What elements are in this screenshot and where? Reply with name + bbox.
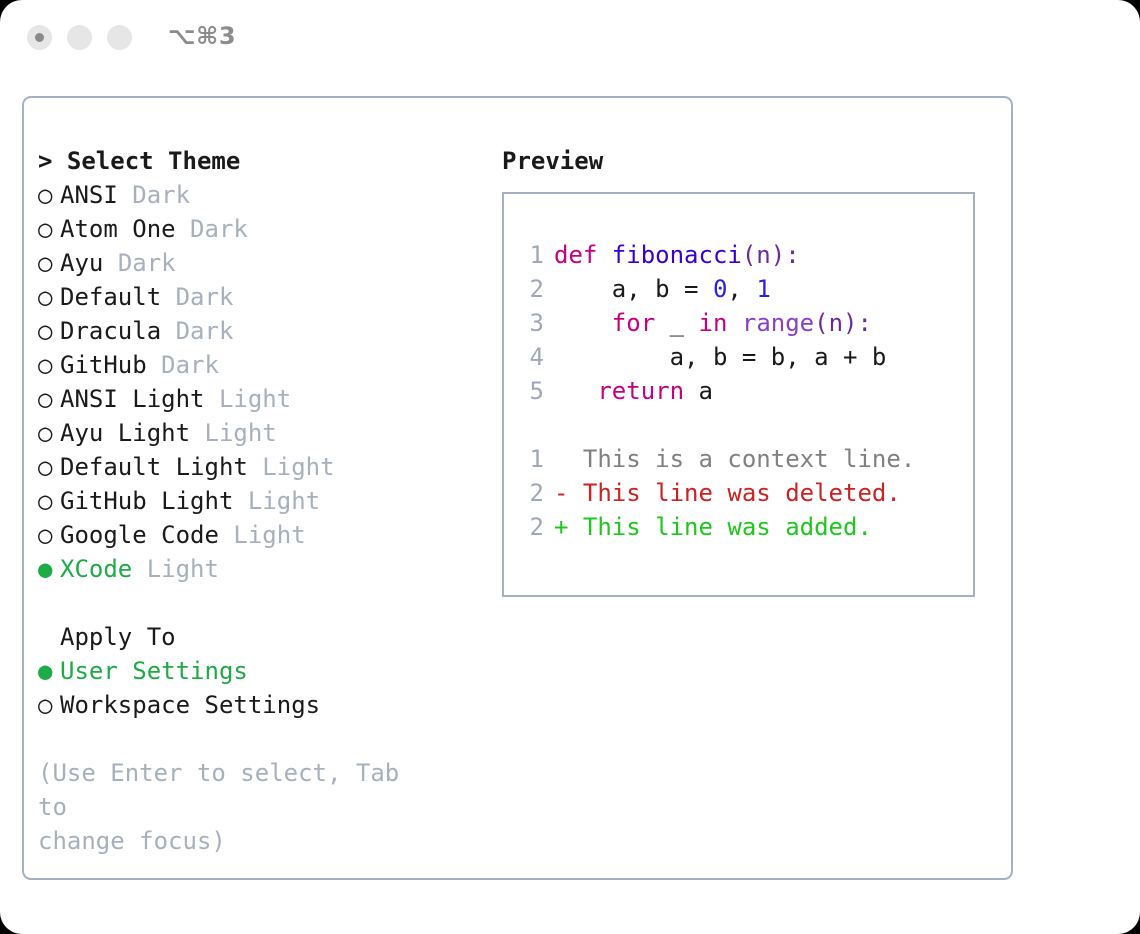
theme-name-label: Ayu Light: [60, 416, 190, 450]
code-token: (n):: [814, 309, 872, 337]
radio-unselected-icon: ○: [38, 382, 60, 416]
radio-unselected-icon: ○: [38, 212, 60, 246]
code-token: a, b = b, a + b: [554, 343, 886, 371]
theme-name-label: GitHub: [60, 348, 147, 382]
radio-unselected-icon: ○: [38, 484, 60, 518]
theme-picker-column: > Select Theme ○ANSI Dark○Atom One Dark○…: [38, 144, 488, 858]
theme-kind-badge: Dark: [161, 348, 219, 382]
radio-unselected-icon: ○: [38, 450, 60, 484]
radio-unselected-icon: ○: [38, 348, 60, 382]
theme-kind-badge: Light: [147, 552, 219, 586]
apply-to-list: ●User Settings○Workspace Settings: [38, 654, 488, 722]
preview-title: Preview: [502, 144, 1002, 178]
list-spacer: [38, 586, 488, 620]
theme-kind-badge: Dark: [176, 280, 234, 314]
title-bar: ⌥⌘3: [0, 0, 1140, 78]
theme-label-gap: [132, 552, 146, 586]
diff-marker: -: [554, 479, 583, 507]
code-token: 0: [713, 275, 727, 303]
code-line: 1def fibonacci(n):: [516, 238, 973, 272]
code-token: return: [597, 377, 684, 405]
theme-label-gap: [147, 348, 161, 382]
code-line: 2 a, b = 0, 1: [516, 272, 973, 306]
diff-marker: +: [554, 513, 583, 541]
theme-list-item[interactable]: ○Dracula Dark: [38, 314, 488, 348]
code-sample: 1def fibonacci(n):2 a, b = 0, 13 for _ i…: [516, 238, 973, 408]
theme-kind-badge: Dark: [132, 178, 190, 212]
code-token: [554, 377, 597, 405]
theme-list-item[interactable]: ○Default Light Light: [38, 450, 488, 484]
diff-line-number: 2: [516, 476, 544, 510]
select-theme-header-label: Select Theme: [67, 147, 240, 175]
code-token: [727, 309, 741, 337]
diff-line-number: 2: [516, 510, 544, 544]
diff-line-number: 1: [516, 442, 544, 476]
keyboard-hint-text: (Use Enter to select, Tab to change focu…: [38, 756, 438, 858]
theme-name-label: Google Code: [60, 518, 219, 552]
traffic-light-buttons: [27, 25, 132, 50]
preview-column: Preview 1def fibonacci(n):2 a, b = 0, 13…: [502, 144, 1002, 597]
keyboard-shortcut-label: ⌥⌘3: [168, 22, 236, 50]
theme-name-label: Default Light: [60, 450, 248, 484]
theme-name-label: XCode: [60, 552, 132, 586]
theme-kind-badge: Light: [205, 416, 277, 450]
code-line: 4 a, b = b, a + b: [516, 340, 973, 374]
close-button-icon[interactable]: [27, 25, 52, 50]
diff-line: 2- This line was deleted.: [516, 476, 973, 510]
theme-label-gap: [233, 484, 247, 518]
theme-list-item[interactable]: ○Ayu Dark: [38, 246, 488, 280]
code-token: range: [742, 309, 814, 337]
diff-text: This line was deleted.: [583, 479, 901, 507]
theme-list-item[interactable]: ○Google Code Light: [38, 518, 488, 552]
code-token: _: [655, 309, 698, 337]
apply-to-item[interactable]: ○Workspace Settings: [38, 688, 488, 722]
theme-label-gap: [118, 178, 132, 212]
theme-kind-badge: Dark: [176, 314, 234, 348]
theme-name-label: GitHub Light: [60, 484, 233, 518]
radio-unselected-icon: ○: [38, 688, 60, 722]
apply-to-item[interactable]: ●User Settings: [38, 654, 488, 688]
radio-unselected-icon: ○: [38, 416, 60, 450]
code-token: a, b =: [554, 275, 713, 303]
theme-kind-badge: Dark: [118, 246, 176, 280]
radio-selected-icon: ●: [38, 552, 60, 586]
theme-name-label: Atom One: [60, 212, 176, 246]
theme-list-item[interactable]: ○Ayu Light Light: [38, 416, 488, 450]
code-token: fibonacci: [612, 241, 742, 269]
theme-list-item[interactable]: ○Default Dark: [38, 280, 488, 314]
theme-list-item[interactable]: ●XCode Light: [38, 552, 488, 586]
radio-unselected-icon: ○: [38, 314, 60, 348]
radio-selected-icon: ●: [38, 654, 60, 688]
code-token: in: [699, 309, 728, 337]
code-token: a: [684, 377, 713, 405]
diff-line: 1 This is a context line.: [516, 442, 973, 476]
theme-label-gap: [161, 280, 175, 314]
theme-kind-badge: Light: [262, 450, 334, 484]
theme-name-label: Default: [60, 280, 161, 314]
select-theme-header: > Select Theme: [38, 144, 488, 178]
theme-label-gap: [103, 246, 117, 280]
active-indicator-dot: [35, 33, 44, 42]
theme-name-label: ANSI Light: [60, 382, 205, 416]
theme-kind-badge: Light: [248, 484, 320, 518]
theme-label-gap: [176, 212, 190, 246]
theme-name-label: Ayu: [60, 246, 103, 280]
theme-label-gap: [248, 450, 262, 484]
theme-label-gap: [190, 416, 204, 450]
theme-label-gap: [219, 518, 233, 552]
code-line: 5 return a: [516, 374, 973, 408]
diff-text: This is a context line.: [583, 445, 915, 473]
code-token: for: [612, 309, 655, 337]
code-token: def: [554, 241, 612, 269]
code-line-number: 1: [516, 238, 544, 272]
radio-unselected-icon: ○: [38, 246, 60, 280]
theme-list-item[interactable]: ○ANSI Light Light: [38, 382, 488, 416]
preview-box: 1def fibonacci(n):2 a, b = 0, 13 for _ i…: [502, 192, 975, 597]
code-line-number: 5: [516, 374, 544, 408]
theme-label-gap: [161, 314, 175, 348]
select-theme-prompt-prefix: >: [38, 147, 67, 175]
diff-marker: [554, 445, 583, 473]
theme-list: ○ANSI Dark○Atom One Dark○Ayu Dark○Defaul…: [38, 178, 488, 586]
code-token: [554, 309, 612, 337]
theme-list-item[interactable]: ○GitHub Dark: [38, 348, 488, 382]
theme-kind-badge: Light: [233, 518, 305, 552]
code-token: ,: [727, 275, 756, 303]
code-line-number: 3: [516, 306, 544, 340]
apply-to-header: Apply To: [38, 620, 488, 654]
theme-list-item[interactable]: ○ANSI Dark: [38, 178, 488, 212]
main-panel: > Select Theme ○ANSI Dark○Atom One Dark○…: [22, 96, 1013, 880]
code-line: 3 for _ in range(n):: [516, 306, 973, 340]
diff-sample: 1 This is a context line.2- This line wa…: [516, 442, 973, 544]
radio-unselected-icon: ○: [38, 518, 60, 552]
theme-kind-badge: Light: [219, 382, 291, 416]
maximize-button-icon[interactable]: [107, 25, 132, 50]
theme-label-gap: [205, 382, 219, 416]
apply-to-label: Workspace Settings: [60, 688, 320, 722]
theme-name-label: Dracula: [60, 314, 161, 348]
diff-line: 2+ This line was added.: [516, 510, 973, 544]
code-token: (n):: [742, 241, 800, 269]
apply-to-label: User Settings: [60, 654, 248, 688]
code-diff-separator: [516, 408, 973, 442]
code-line-number: 2: [516, 272, 544, 306]
theme-list-item[interactable]: ○GitHub Light Light: [38, 484, 488, 518]
app-window: ⌥⌘3 > Select Theme ○ANSI Dark○Atom One D…: [0, 0, 1140, 934]
radio-unselected-icon: ○: [38, 178, 60, 212]
theme-kind-badge: Dark: [190, 212, 248, 246]
radio-unselected-icon: ○: [38, 280, 60, 314]
theme-list-item[interactable]: ○Atom One Dark: [38, 212, 488, 246]
minimize-button-icon[interactable]: [67, 25, 92, 50]
code-line-number: 4: [516, 340, 544, 374]
diff-text: This line was added.: [583, 513, 872, 541]
theme-name-label: ANSI: [60, 178, 118, 212]
code-token: 1: [756, 275, 770, 303]
